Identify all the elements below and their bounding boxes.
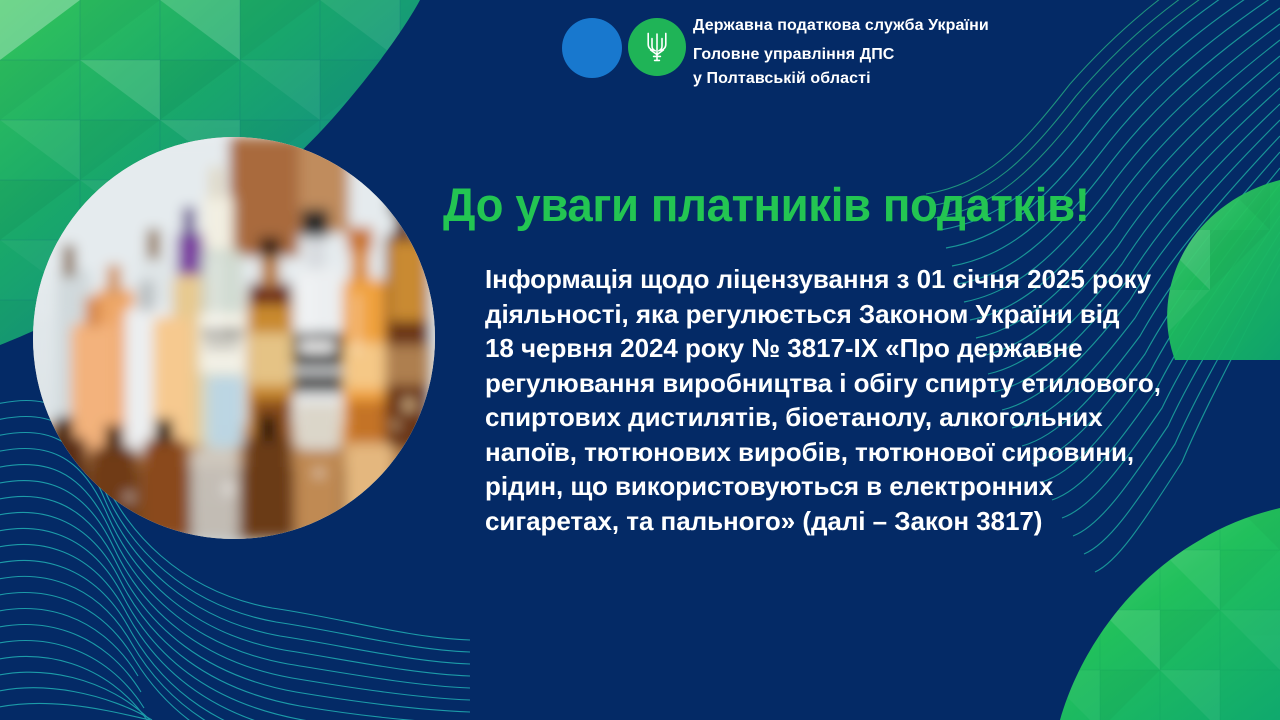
emblem-circle [628, 18, 686, 76]
body-line: Інформація щодо ліцензування з 01 січня … [485, 262, 1215, 297]
blue-circle-icon [562, 18, 622, 78]
body-line: діяльності, яка регулюється Законом Укра… [485, 297, 1215, 332]
org-name-line3: у Полтавській області [693, 67, 989, 91]
logo-mark [560, 10, 688, 80]
org-name-line1: Державна податкова служба України [693, 14, 989, 38]
page-title: До уваги платників податків! [443, 178, 1209, 232]
body-line: регулювання виробництва і обігу спирту е… [485, 366, 1215, 401]
body-line: рідин, що використовуються в електронних [485, 469, 1215, 504]
body-line: напоїв, тютюнових виробів, тютюнової сир… [485, 435, 1215, 470]
body-line: сигаретах, та пального» (далі – Закон 38… [485, 504, 1215, 539]
brand-header: Державна податкова служба України Головн… [560, 10, 989, 91]
ukraine-trident-icon [644, 30, 670, 64]
body-line: спиртових дистилятів, біоетанолу, алкого… [485, 400, 1215, 435]
brand-header-text: Державна податкова служба України Головн… [693, 10, 989, 91]
body-line: 18 червня 2024 року № 3817-IX «Про держа… [485, 331, 1215, 366]
org-name-line2: Головне управління ДПС [693, 43, 989, 67]
liquor-bottles-photo [33, 137, 435, 539]
presentation-slide: Державна податкова служба України Головн… [0, 0, 1280, 720]
body-text: Інформація щодо ліцензування з 01 січня … [485, 262, 1215, 538]
